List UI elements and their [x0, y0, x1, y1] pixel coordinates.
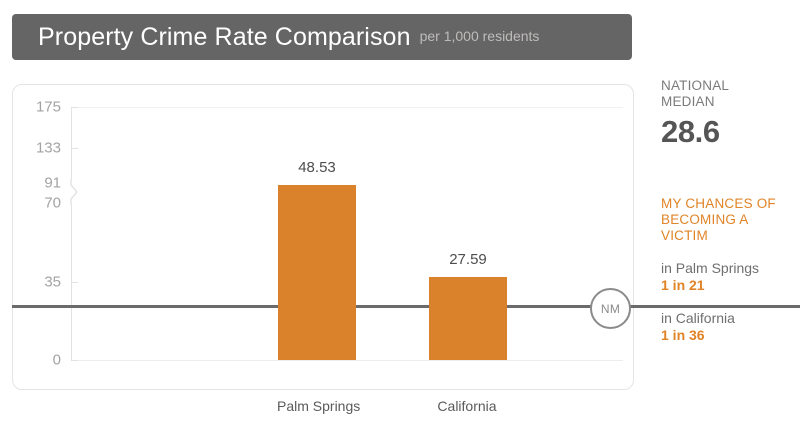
y-tick-label: 175: [1, 100, 71, 115]
chance-odds-value: 1 in 21: [661, 277, 796, 294]
national-median-kicker-line1: NATIONAL: [661, 78, 796, 94]
page-title: Property Crime Rate Comparison: [38, 23, 411, 52]
chance-block-palm-springs: in Palm Springs 1 in 21: [661, 260, 796, 294]
y-tick-label: 70: [1, 196, 71, 211]
chance-block-california: in California 1 in 36: [661, 310, 796, 344]
national-median-kicker-line2: MEDIAN: [661, 94, 796, 110]
plot-baseline: [71, 360, 623, 361]
chart-panel: 175 133 91 70 35 0 48.53: [12, 84, 634, 390]
chance-place-label: in California: [661, 310, 796, 327]
national-median-marker[interactable]: NM: [590, 288, 631, 329]
plot-top-border: [71, 107, 623, 108]
y-tick-label: 0: [1, 353, 71, 368]
national-median-kicker: NATIONAL MEDIAN: [661, 78, 796, 110]
chances-heading: MY CHANCES OF BECOMING A VICTIM: [661, 196, 796, 244]
chances-heading-line1: MY CHANCES OF: [661, 196, 796, 212]
x-axis-label-california: California: [428, 398, 506, 414]
chances-heading-line3: VICTIM: [661, 228, 796, 244]
y-tick-label: 91: [1, 176, 71, 191]
chances-heading-line2: BECOMING A: [661, 212, 796, 228]
y-tick-label: 35: [1, 275, 71, 290]
y-tick-label: 133: [1, 141, 71, 156]
bar-value-palm-springs: 48.53: [278, 159, 356, 176]
chance-odds-value: 1 in 36: [661, 327, 796, 344]
bar-california[interactable]: [429, 277, 507, 360]
axis-break-icon: [67, 179, 79, 205]
national-median-line: [12, 305, 800, 308]
y-axis-line: [71, 107, 72, 361]
chart-header-bar: Property Crime Rate Comparison per 1,000…: [12, 14, 632, 60]
national-median-value: 28.6: [661, 115, 796, 149]
x-axis-label-palm-springs: Palm Springs: [277, 398, 355, 414]
national-median-marker-label: NM: [601, 302, 620, 316]
bar-value-california: 27.59: [429, 251, 507, 268]
bar-palm-springs[interactable]: [278, 185, 356, 360]
plot-area: 175 133 91 70 35 0 48.53: [13, 85, 633, 389]
chance-place-label: in Palm Springs: [661, 260, 796, 277]
page-subtitle: per 1,000 residents: [420, 28, 540, 46]
